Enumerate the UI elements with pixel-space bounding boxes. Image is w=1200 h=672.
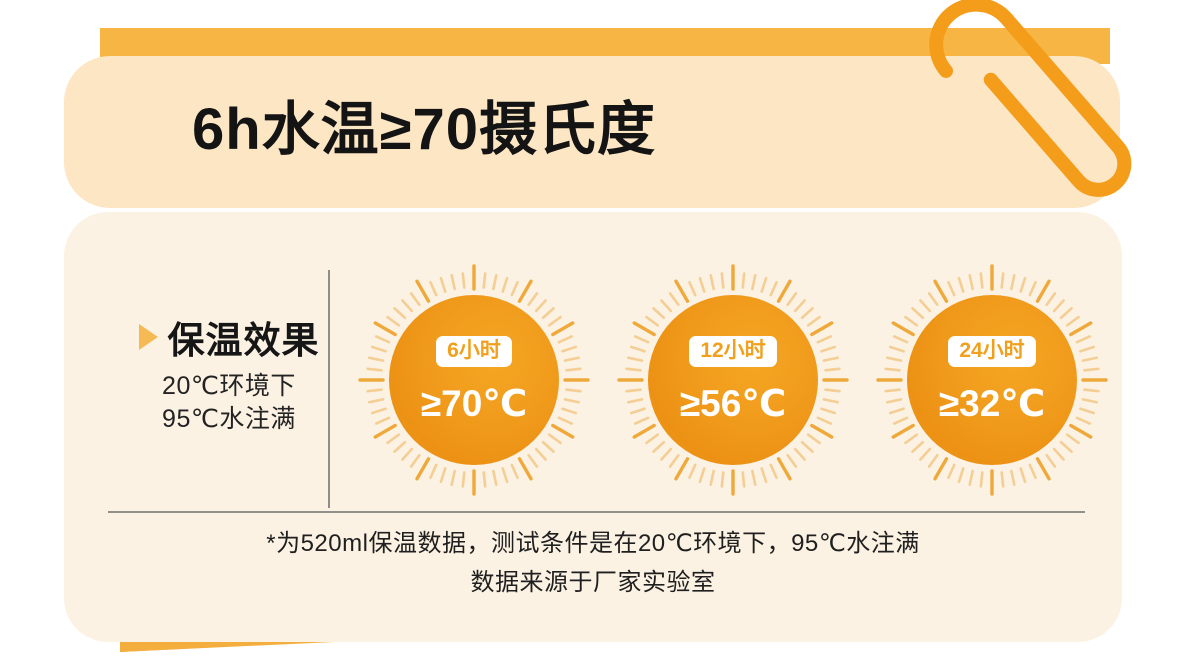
horizontal-divider [108,511,1085,513]
infographic-canvas: 6h水温≥70摄氏度 保温效果 20℃环境下 95℃水注满 6小时 ≥70℃ [0,0,1200,672]
metric-disc: 12小时 ≥56℃ [648,295,818,465]
vertical-divider [328,270,330,508]
metric-badge-label: 6小时 [436,336,512,367]
metric-value-label: ≥56℃ [680,382,786,425]
metric-badge-label: 24小时 [948,336,1035,367]
footnote-line-1: *为520ml保温数据，测试条件是在20℃环境下，95℃水注满 [64,524,1122,563]
left-subtext-line-1: 20℃环境下 [104,370,354,403]
left-subtext-line-2: 95℃水注满 [104,403,354,436]
footnote-line-2: 数据来源于厂家实验室 [64,563,1122,602]
title-card: 6h水温≥70摄氏度 [64,56,1120,208]
left-heading-label: 保温效果 [168,310,320,364]
metric-circle-12h: 12小时 ≥56℃ [615,262,851,498]
metric-disc: 24小时 ≥32℃ [907,295,1077,465]
content-card: 保温效果 20℃环境下 95℃水注满 6小时 ≥70℃ 12小时 ≥56℃ [64,212,1122,642]
footnote-block: *为520ml保温数据，测试条件是在20℃环境下，95℃水注满 数据来源于厂家实… [64,524,1122,602]
triangle-right-icon [139,324,158,350]
left-heading-row: 保温效果 [104,310,354,364]
metric-disc: 6小时 ≥70℃ [389,295,559,465]
metric-value-label: ≥32℃ [939,382,1045,425]
metric-circle-6h: 6小时 ≥70℃ [356,262,592,498]
metric-circle-24h: 24小时 ≥32℃ [874,262,1110,498]
page-title: 6h水温≥70摄氏度 [192,88,656,172]
left-label-block: 保温效果 20℃环境下 95℃水注满 [104,310,354,436]
metric-badge-label: 12小时 [689,336,776,367]
metric-value-label: ≥70℃ [421,382,527,425]
